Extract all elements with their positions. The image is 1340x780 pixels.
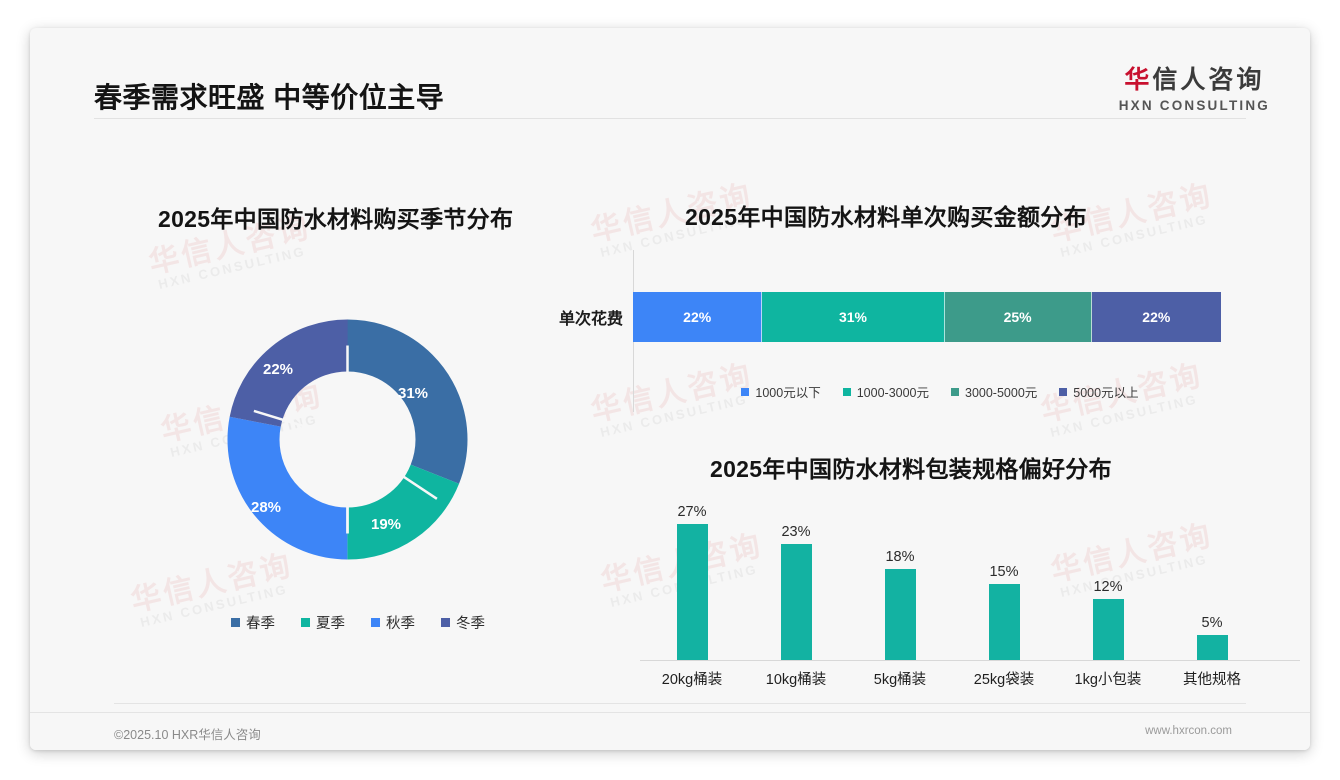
legend-swatch-icon <box>441 618 450 627</box>
column-bar[interactable] <box>885 569 916 660</box>
column-value: 12% <box>1093 579 1122 595</box>
brand-name-en: HXN CONSULTING <box>1119 98 1270 113</box>
column-group[interactable]: 5% <box>1160 504 1264 660</box>
legend-item-under-1000[interactable]: 1000元以下 <box>741 382 820 401</box>
legend-label: 5000元以上 <box>1073 382 1138 401</box>
header-divider <box>94 118 1246 119</box>
column-category-label: 5kg桶装 <box>848 668 952 689</box>
column-group[interactable]: 12% <box>1056 504 1160 660</box>
column-value: 15% <box>989 564 1018 580</box>
brand-logo: 华信人咨询 HXN CONSULTING <box>1119 60 1270 113</box>
column-bar[interactable] <box>781 544 812 660</box>
column-chart-panel: 2025年中国防水材料包装规格偏好分布 27% 23% 18% 15% 12% <box>630 428 1310 698</box>
legend-item-winter[interactable]: 冬季 <box>441 612 485 633</box>
footer-copyright: ©2025.10 HXR华信人咨询 <box>114 724 261 743</box>
legend-swatch-icon <box>741 388 749 396</box>
donut-chart-title: 2025年中国防水材料购买季节分布 <box>158 200 513 234</box>
donut-chart-panel: 2025年中国防水材料购买季节分布 31% 19% 28% <box>88 160 628 680</box>
column-bar[interactable] <box>989 584 1020 660</box>
legend-item-autumn[interactable]: 秋季 <box>371 612 415 633</box>
legend-label: 冬季 <box>456 612 485 633</box>
column-chart-title: 2025年中国防水材料包装规格偏好分布 <box>710 450 1112 484</box>
legend-label: 秋季 <box>386 612 415 633</box>
stacked-bar-panel: 2025年中国防水材料单次购买金额分布 单次花费 22% 31% 25% 22%… <box>630 160 1310 422</box>
column-group[interactable]: 15% <box>952 504 1056 660</box>
stacked-bar-row: 单次花费 22% 31% 25% 22% <box>630 292 1250 342</box>
slide-card: 华信人咨询 HXN CONSULTING 华信人咨询 HXN CONSULTIN… <box>30 28 1310 750</box>
legend-swatch-icon <box>843 388 851 396</box>
column-chart-categories: 20kg桶装 10kg桶装 5kg桶装 25kg袋装 1kg小包装 其他规格 <box>640 668 1300 694</box>
brand-rest-chars: 信人咨询 <box>1152 66 1264 94</box>
stack-segment-under-1000[interactable]: 22% <box>633 292 762 342</box>
brand-accent-char: 华 <box>1124 66 1152 94</box>
donut-svg: 31% 19% 28% 22% <box>190 282 505 597</box>
legend-swatch-icon <box>301 618 310 627</box>
legend-label: 3000-5000元 <box>965 382 1037 401</box>
stack-segment-over-5000[interactable]: 22% <box>1092 292 1221 342</box>
donut-value-spring: 31% <box>398 385 428 402</box>
stacked-bar-row-label: 单次花费 <box>535 305 623 329</box>
legend-swatch-icon <box>371 618 380 627</box>
donut-chart: 31% 19% 28% 22% <box>190 282 505 597</box>
column-category-label: 10kg桶装 <box>744 668 848 689</box>
stack-segment-1000-3000[interactable]: 31% <box>762 292 944 342</box>
footer-website[interactable]: www.hxrcon.com <box>1145 725 1232 737</box>
column-group[interactable]: 27% <box>640 504 744 660</box>
column-bar[interactable] <box>1093 599 1124 660</box>
legend-swatch-icon <box>951 388 959 396</box>
donut-value-autumn: 28% <box>251 499 281 516</box>
legend-label: 1000元以下 <box>755 382 820 401</box>
column-value: 18% <box>885 549 914 565</box>
legend-label: 夏季 <box>316 612 345 633</box>
legend-item-1000-3000[interactable]: 1000-3000元 <box>843 382 929 401</box>
stack-segment-3000-5000[interactable]: 25% <box>945 292 1092 342</box>
legend-item-over-5000[interactable]: 5000元以上 <box>1059 382 1138 401</box>
column-bar[interactable] <box>677 524 708 660</box>
legend-label: 1000-3000元 <box>857 382 929 401</box>
donut-value-winter: 22% <box>263 361 293 378</box>
legend-item-summer[interactable]: 夏季 <box>301 612 345 633</box>
stacked-bar-title: 2025年中国防水材料单次购买金额分布 <box>685 198 1087 232</box>
column-group[interactable]: 18% <box>848 504 952 660</box>
column-value: 23% <box>781 524 810 540</box>
column-group[interactable]: 23% <box>744 504 848 660</box>
stacked-bar-legend: 1000元以下 1000-3000元 3000-5000元 5000元以上 <box>630 382 1250 401</box>
donut-legend: 春季 夏季 秋季 冬季 <box>88 612 628 633</box>
donut-value-summer: 19% <box>371 516 401 533</box>
column-category-label: 20kg桶装 <box>640 668 744 689</box>
column-chart-axis <box>640 660 1300 661</box>
column-value: 27% <box>677 504 706 520</box>
column-chart-plot: 27% 23% 18% 15% 12% 5% <box>640 504 1300 660</box>
brand-name-cn: 华信人咨询 <box>1119 60 1270 96</box>
page-title: 春季需求旺盛 中等价位主导 <box>94 76 444 116</box>
legend-item-3000-5000[interactable]: 3000-5000元 <box>951 382 1037 401</box>
stacked-bar: 22% 31% 25% 22% <box>633 292 1221 342</box>
legend-swatch-icon <box>231 618 240 627</box>
legend-label: 春季 <box>246 612 275 633</box>
column-category-label: 1kg小包装 <box>1056 668 1160 689</box>
footnote-divider <box>114 703 1246 704</box>
legend-swatch-icon <box>1059 388 1067 396</box>
column-category-label: 25kg袋装 <box>952 668 1056 689</box>
legend-item-spring[interactable]: 春季 <box>231 612 275 633</box>
column-category-label: 其他规格 <box>1160 668 1264 689</box>
column-value: 5% <box>1202 615 1223 631</box>
footer-bar: ©2025.10 HXR华信人咨询 www.hxrcon.com <box>30 712 1310 750</box>
slide-header: 春季需求旺盛 中等价位主导 华信人咨询 HXN CONSULTING <box>30 28 1310 122</box>
column-bar[interactable] <box>1197 635 1228 660</box>
